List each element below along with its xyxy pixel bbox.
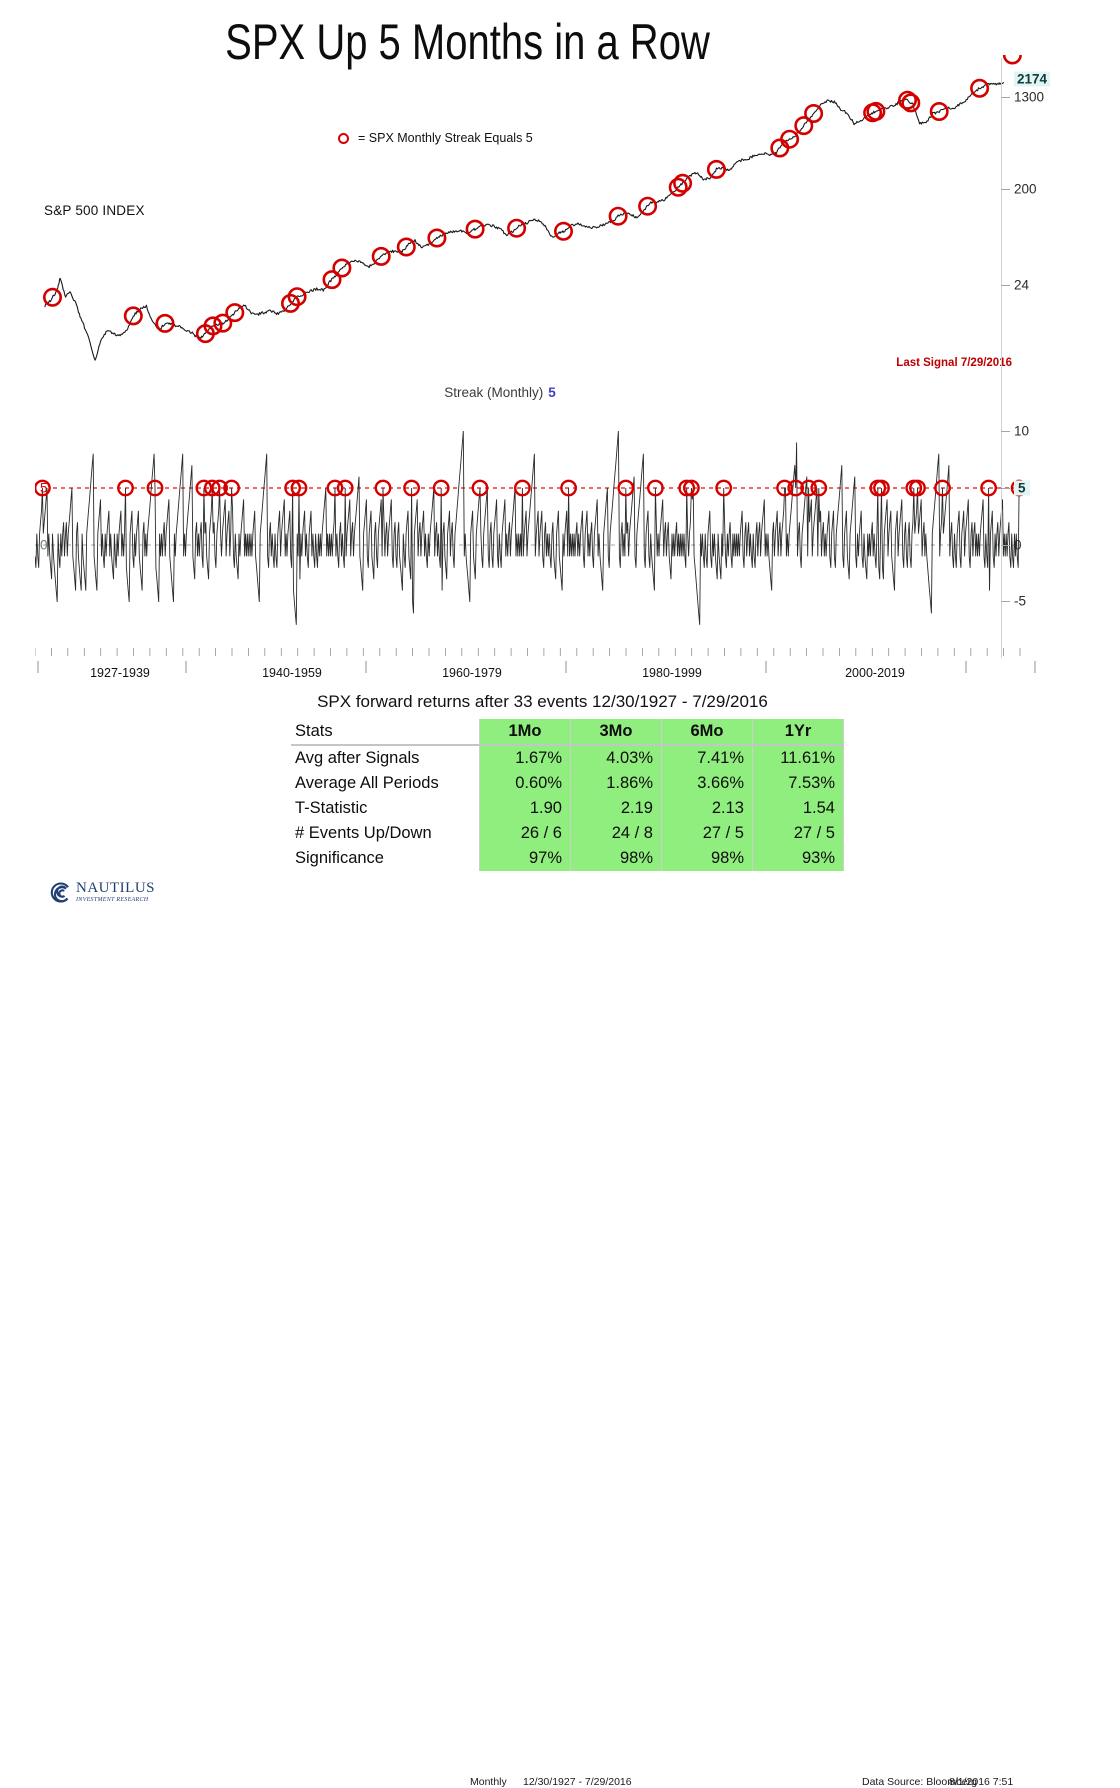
table-body: Avg after Signals 1.67% 4.03% 7.41% 11.6… bbox=[291, 745, 844, 871]
streak-label-text: Streak (Monthly) bbox=[444, 385, 543, 400]
streak-axis-tick-0: 0 bbox=[1014, 538, 1022, 553]
streak-panel-label: Streak (Monthly)5 bbox=[0, 385, 1000, 400]
axis-tick bbox=[1001, 601, 1010, 602]
axis-spine bbox=[1001, 58, 1002, 658]
cell-value: 26 / 6 bbox=[480, 821, 571, 846]
footer-frequency: Monthly bbox=[470, 1776, 507, 1788]
cell-value: 98% bbox=[571, 846, 662, 871]
streak-left-label-zero: 0 bbox=[40, 538, 48, 553]
column-header-1mo: 1Mo bbox=[480, 719, 571, 745]
footer-timestamp: 8/1/2016 7:51 bbox=[949, 1776, 1013, 1788]
cell-value: 0.60% bbox=[480, 771, 571, 796]
price-chart-plot bbox=[35, 55, 1035, 375]
column-header-3mo: 3Mo bbox=[571, 719, 662, 745]
x-label-0: 1927-1939 bbox=[90, 666, 150, 680]
table-row: # Events Up/Down 26 / 6 24 / 8 27 / 5 27… bbox=[291, 821, 844, 846]
footer: Monthly 12/30/1927 - 7/29/2016 Data Sour… bbox=[0, 884, 1120, 912]
table-caption: SPX forward returns after 33 events 12/3… bbox=[0, 692, 1085, 712]
streak-axis-tick-5: 5 bbox=[1014, 481, 1030, 496]
cell-value: 24 / 8 bbox=[571, 821, 662, 846]
row-label: T-Statistic bbox=[291, 796, 480, 821]
x-label-4: 2000-2019 bbox=[845, 666, 905, 680]
row-label: Avg after Signals bbox=[291, 745, 480, 771]
column-header-1yr: 1Yr bbox=[753, 719, 844, 745]
streak-left-label-five: 5 bbox=[40, 481, 48, 496]
cell-value: 27 / 5 bbox=[662, 821, 753, 846]
row-label: Average All Periods bbox=[291, 771, 480, 796]
x-label-1: 1940-1959 bbox=[262, 666, 322, 680]
axis-tick bbox=[1001, 97, 1010, 98]
price-signal-markers bbox=[44, 55, 1020, 342]
cell-value: 1.86% bbox=[571, 771, 662, 796]
streak-line bbox=[35, 431, 1020, 625]
price-line bbox=[45, 82, 1004, 360]
stats-table: Stats 1Mo 3Mo 6Mo 1Yr Avg after Signals … bbox=[291, 719, 844, 871]
cell-value: 1.67% bbox=[480, 745, 571, 771]
x-axis-labels: 1927-1939 1940-1959 1960-1979 1980-1999 … bbox=[35, 655, 1050, 685]
column-header-stats: Stats bbox=[291, 719, 480, 745]
table-row: T-Statistic 1.90 2.19 2.13 1.54 bbox=[291, 796, 844, 821]
cell-value: 98% bbox=[662, 846, 753, 871]
cell-value: 2.19 bbox=[571, 796, 662, 821]
row-label: # Events Up/Down bbox=[291, 821, 480, 846]
table-header: Stats 1Mo 3Mo 6Mo 1Yr bbox=[291, 719, 844, 745]
right-axis: 2174 1300 200 24 10 5 0 -5 bbox=[1001, 58, 1120, 658]
axis-tick bbox=[1001, 488, 1010, 489]
signal-marker bbox=[157, 315, 173, 331]
cell-value: 2.13 bbox=[662, 796, 753, 821]
table-row: Significance 97% 98% 98% 93% bbox=[291, 846, 844, 871]
axis-tick bbox=[1001, 545, 1010, 546]
price-axis-tick-200: 200 bbox=[1014, 182, 1037, 197]
price-axis-tick-1300: 1300 bbox=[1014, 90, 1044, 105]
cell-value: 27 / 5 bbox=[753, 821, 844, 846]
cell-value: 1.90 bbox=[480, 796, 571, 821]
cell-value: 93% bbox=[753, 846, 844, 871]
cell-value: 7.41% bbox=[662, 745, 753, 771]
axis-tick bbox=[1001, 431, 1010, 432]
table-header-row: Stats 1Mo 3Mo 6Mo 1Yr bbox=[291, 719, 844, 745]
signal-marker bbox=[467, 221, 483, 237]
axis-tick bbox=[1001, 189, 1010, 190]
axis-tick bbox=[1001, 285, 1010, 286]
signal-marker bbox=[639, 198, 655, 214]
cell-value: 97% bbox=[480, 846, 571, 871]
column-header-6mo: 6Mo bbox=[662, 719, 753, 745]
price-axis-tick-24: 24 bbox=[1014, 278, 1029, 293]
cell-value: 7.53% bbox=[753, 771, 844, 796]
x-label-2: 1960-1979 bbox=[442, 666, 502, 680]
cell-value: 4.03% bbox=[571, 745, 662, 771]
streak-chart-plot bbox=[35, 400, 1035, 650]
table-row: Average All Periods 0.60% 1.86% 3.66% 7.… bbox=[291, 771, 844, 796]
price-current-value: 2174 bbox=[1014, 72, 1050, 87]
cell-value: 11.61% bbox=[753, 745, 844, 771]
x-label-3: 1980-1999 bbox=[642, 666, 702, 680]
streak-current-value: 5 bbox=[543, 385, 556, 400]
row-label: Significance bbox=[291, 846, 480, 871]
cell-value: 1.54 bbox=[753, 796, 844, 821]
streak-axis-tick-10: 10 bbox=[1014, 424, 1029, 439]
footer-date-range: 12/30/1927 - 7/29/2016 bbox=[523, 1776, 632, 1788]
streak-axis-tick-neg5: -5 bbox=[1014, 594, 1026, 609]
table-row: Avg after Signals 1.67% 4.03% 7.41% 11.6… bbox=[291, 745, 844, 771]
cell-value: 3.66% bbox=[662, 771, 753, 796]
chart-root: SPX Up 5 Months in a Row = SPX Monthly S… bbox=[0, 0, 1120, 912]
